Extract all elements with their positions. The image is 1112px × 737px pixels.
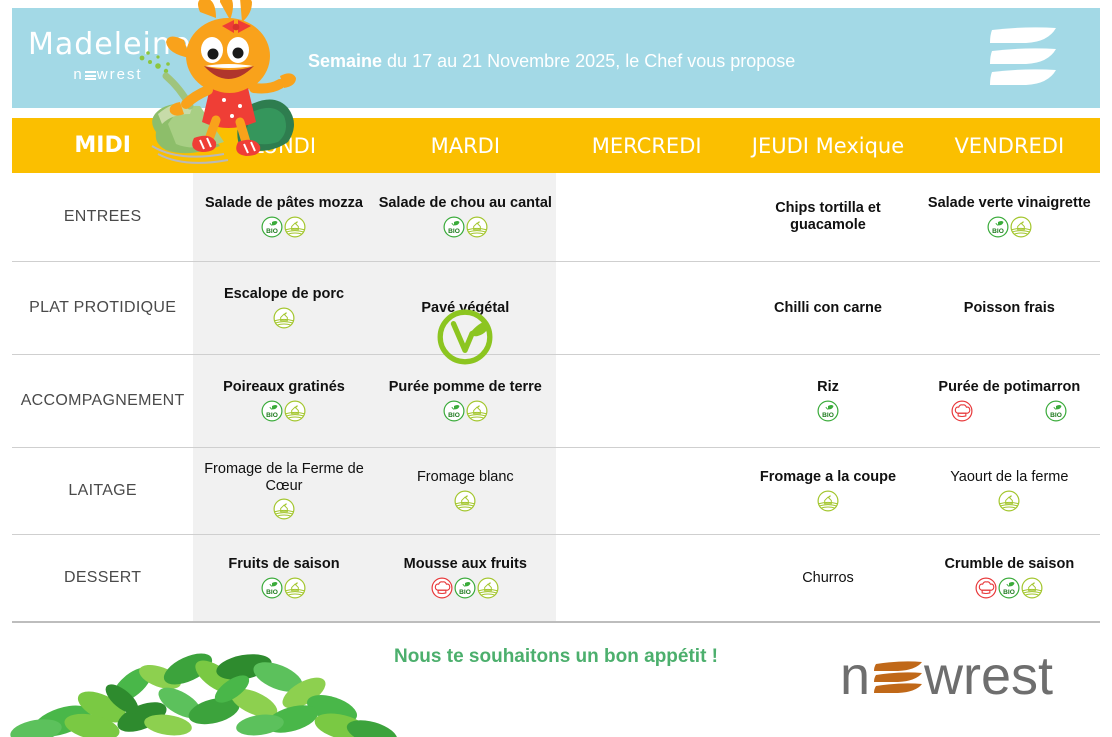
menu-cell: Mousse aux fruits BIO <box>375 535 556 623</box>
dish-name: Salade de chou au cantal <box>375 195 556 212</box>
dish-name: Fromage blanc <box>375 469 556 486</box>
menu-cell: Fromage blanc <box>375 448 556 535</box>
badge-row: BIO <box>375 399 556 423</box>
local-farm-badge-icon <box>454 490 476 512</box>
dish-name: Churros <box>737 570 918 587</box>
svg-text:BIO: BIO <box>267 589 279 596</box>
row-label-accompagnement: ACCOMPAGNEMENT <box>12 355 193 448</box>
menu-cell: Purée de potimarron BIO <box>919 355 1100 448</box>
dish-name: Chips tortilla et guacamole <box>737 200 918 233</box>
page-title-rest: du 17 au 21 Novembre 2025, le Chef vous … <box>382 51 795 71</box>
badge-row <box>737 489 918 513</box>
fait-maison-chef-hat-badge-icon <box>975 577 997 599</box>
bio-badge-icon: BIO <box>443 216 465 238</box>
bio-badge-icon: BIO <box>817 400 839 422</box>
menu-cell <box>556 355 737 448</box>
menu-cell: Poisson frais <box>919 262 1100 355</box>
column-header-jeudi: JEUDI Mexique <box>737 118 918 173</box>
madeleine-mascot-icon <box>128 0 328 176</box>
dish-name: Fromage de la Ferme de Cœur <box>193 461 374 494</box>
dish-name: Fruits de saison <box>193 556 374 573</box>
dish-name: Chilli con carne <box>737 300 918 317</box>
dish-name: Mousse aux fruits <box>375 556 556 573</box>
menu-cell: Pavé végétal <box>375 262 556 355</box>
local-farm-badge-icon <box>273 307 295 329</box>
page-title: Semaine du 17 au 21 Novembre 2025, le Ch… <box>308 51 795 72</box>
badge-row: BIO <box>375 576 556 600</box>
row-label-entrees: ENTREES <box>12 173 193 262</box>
badge-row: BIO <box>193 215 374 239</box>
local-farm-badge-icon <box>1021 577 1043 599</box>
local-farm-badge-icon <box>273 498 295 520</box>
bio-badge-icon: BIO <box>998 577 1020 599</box>
table-row: LAITAGEFromage de la Ferme de Cœur Froma… <box>12 448 1100 535</box>
badge-row: BIO <box>193 399 374 423</box>
dish-name: Poisson frais <box>919 300 1100 317</box>
local-farm-badge-icon <box>466 400 488 422</box>
row-label-laitage: LAITAGE <box>12 448 193 535</box>
menu-cell <box>556 173 737 262</box>
badge-row <box>193 306 374 330</box>
menu-cell: Fromage de la Ferme de Cœur <box>193 448 374 535</box>
dish-name: Riz <box>737 379 918 396</box>
row-label-dessert: DESSERT <box>12 535 193 623</box>
menu-cell: Chilli con carne <box>737 262 918 355</box>
menu-cell: Salade de pâtes mozza BIO <box>193 173 374 262</box>
bio-badge-icon: BIO <box>443 400 465 422</box>
badge-row: BIO <box>375 215 556 239</box>
dish-name: Salade de pâtes mozza <box>193 195 374 212</box>
menu-cell: Salade de chou au cantal BIO <box>375 173 556 262</box>
local-farm-badge-icon <box>1010 216 1032 238</box>
svg-text:wrest: wrest <box>923 648 1053 706</box>
bio-badge-icon: BIO <box>987 216 1009 238</box>
svg-text:n: n <box>840 648 870 706</box>
column-header-mardi: MARDI <box>375 118 556 173</box>
badge-row: BIO <box>193 576 374 600</box>
dish-name: Purée de potimarron <box>919 379 1100 396</box>
menu-cell: Poireaux gratinés BIO <box>193 355 374 448</box>
menu-cell: Escalope de porc <box>193 262 374 355</box>
menu-cell <box>556 262 737 355</box>
badge-row: BIO <box>919 215 1100 239</box>
badge-row <box>193 497 374 521</box>
column-header-mercredi: MERCREDI <box>556 118 737 173</box>
local-farm-badge-icon <box>284 216 306 238</box>
newrest-e-mark-icon <box>986 26 1062 92</box>
svg-text:BIO: BIO <box>992 228 1004 235</box>
dish-name: Escalope de porc <box>193 286 374 303</box>
dish-name: Crumble de saison <box>919 556 1100 573</box>
menu-cell: Riz BIO <box>737 355 918 448</box>
badge-row <box>919 489 1100 513</box>
svg-text:BIO: BIO <box>267 412 279 419</box>
bio-badge-icon: BIO <box>454 577 476 599</box>
table-row: ACCOMPAGNEMENTPoireaux gratinés BIO Puré… <box>12 355 1100 448</box>
badge-row: BIO <box>919 399 1100 423</box>
menu-cell <box>556 535 737 623</box>
bio-badge-icon: BIO <box>261 216 283 238</box>
svg-text:BIO: BIO <box>459 589 471 596</box>
menu-cell: Crumble de saison BIO <box>919 535 1100 623</box>
table-row: ENTREESSalade de pâtes mozza BIO Salade … <box>12 173 1100 262</box>
menu-cell: Churros <box>737 535 918 623</box>
menu-cell: Salade verte vinaigrette BIO <box>919 173 1100 262</box>
svg-text:BIO: BIO <box>822 412 834 419</box>
badge-row <box>375 489 556 513</box>
row-label-plat-protidique: PLAT PROTIDIQUE <box>12 262 193 355</box>
menu-cell: Fruits de saison BIO <box>193 535 374 623</box>
table-row: PLAT PROTIDIQUEEscalope de porc Pavé vég… <box>12 262 1100 355</box>
local-farm-badge-icon <box>284 400 306 422</box>
local-farm-badge-icon <box>284 577 306 599</box>
column-header-vendredi: VENDREDI <box>919 118 1100 173</box>
local-farm-badge-icon <box>466 216 488 238</box>
dish-name: Purée pomme de terre <box>375 379 556 396</box>
svg-text:BIO: BIO <box>448 412 460 419</box>
fait-maison-chef-hat-badge-icon <box>951 400 973 422</box>
svg-text:BIO: BIO <box>1003 589 1015 596</box>
bio-badge-icon: BIO <box>1045 400 1067 422</box>
leaves-decoration-icon <box>0 625 412 737</box>
dish-name: Yaourt de la ferme <box>919 469 1100 486</box>
local-farm-badge-icon <box>817 490 839 512</box>
svg-text:BIO: BIO <box>267 228 279 235</box>
menu-cell: Yaourt de la ferme <box>919 448 1100 535</box>
brand-e-bars-icon <box>85 71 96 80</box>
vegetarian-v-badge-icon <box>434 306 496 368</box>
menu-cell: Chips tortilla et guacamole <box>737 173 918 262</box>
newrest-logo: n wrest <box>840 648 1090 710</box>
fait-maison-chef-hat-badge-icon <box>431 577 453 599</box>
dish-name: Salade verte vinaigrette <box>919 195 1100 212</box>
badge-row: BIO <box>919 576 1100 600</box>
menu-table: MIDI LUNDI MARDI MERCREDI JEUDI Mexique … <box>12 118 1100 623</box>
svg-text:BIO: BIO <box>448 228 460 235</box>
bio-badge-icon: BIO <box>261 577 283 599</box>
local-farm-badge-icon <box>477 577 499 599</box>
menu-cell: Purée pomme de terre BIO <box>375 355 556 448</box>
menu-table-body: ENTREESSalade de pâtes mozza BIO Salade … <box>12 173 1100 622</box>
table-row: DESSERTFruits de saison BIO Mousse aux f… <box>12 535 1100 623</box>
svg-text:BIO: BIO <box>1050 412 1062 419</box>
dish-name: Poireaux gratinés <box>193 379 374 396</box>
dish-name: Fromage a la coupe <box>737 469 918 486</box>
badge-row: BIO <box>737 399 918 423</box>
local-farm-badge-icon <box>998 490 1020 512</box>
bio-badge-icon: BIO <box>261 400 283 422</box>
menu-cell: Fromage a la coupe <box>737 448 918 535</box>
menu-cell <box>556 448 737 535</box>
